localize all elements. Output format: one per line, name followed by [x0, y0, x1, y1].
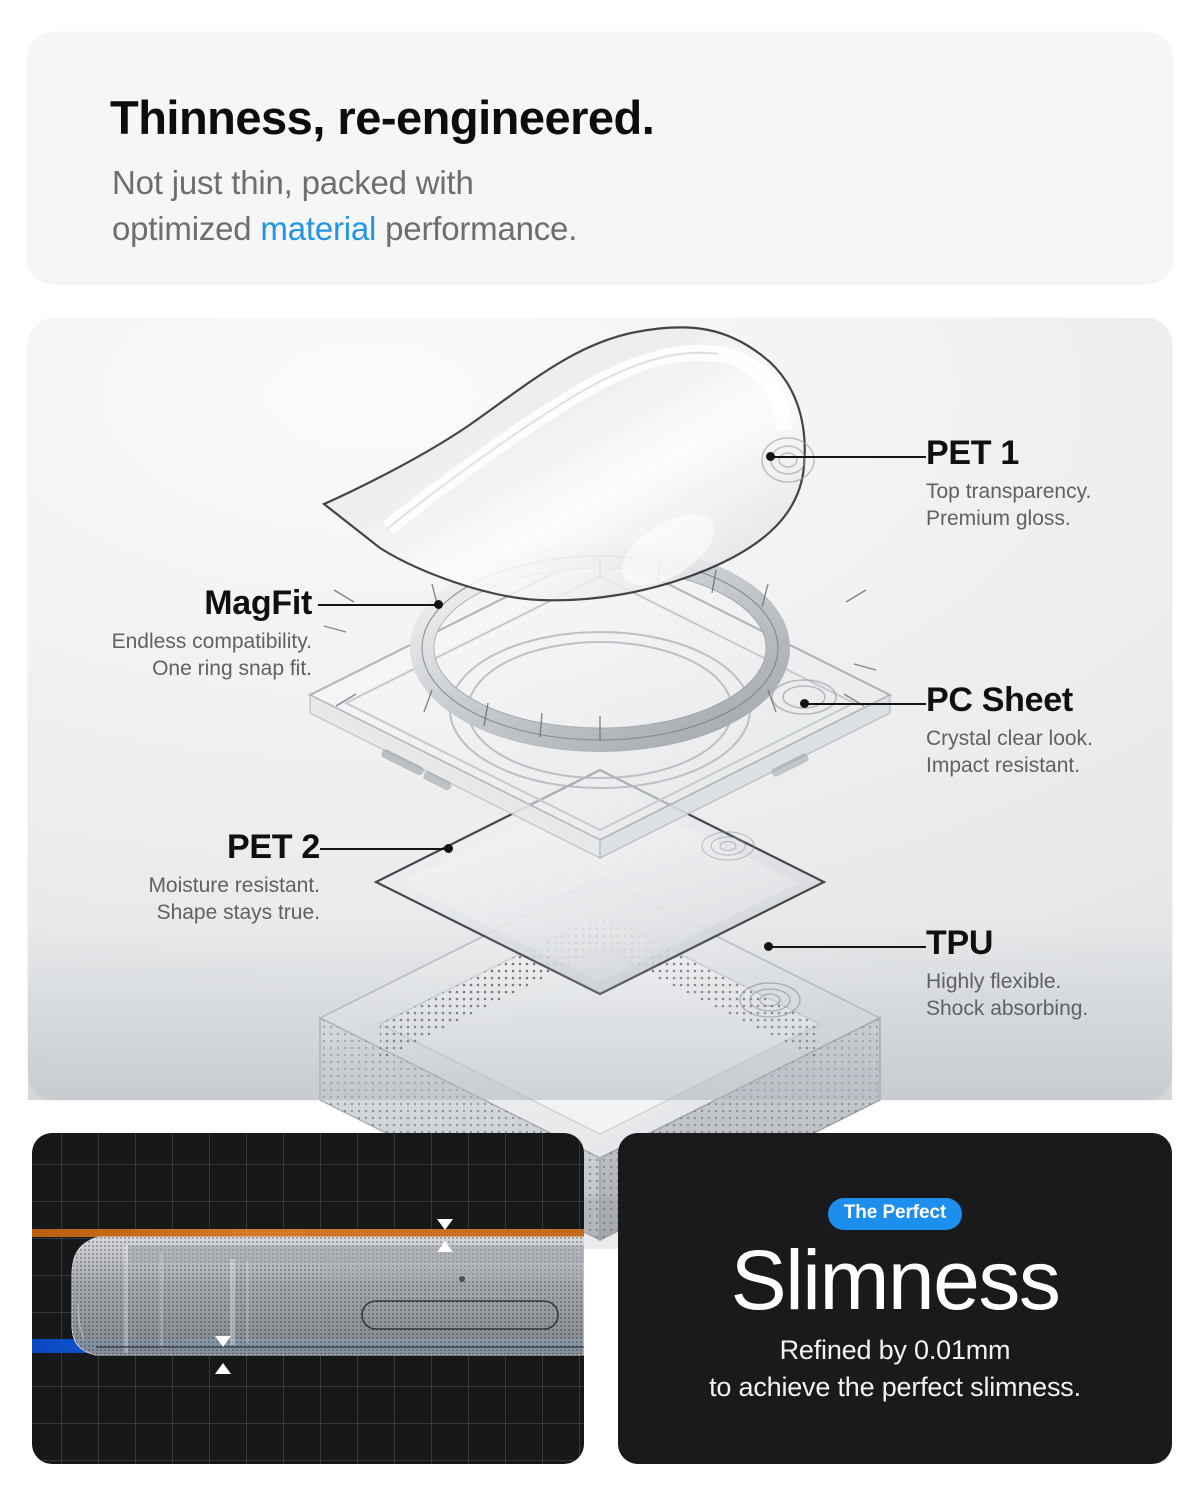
- measure-marker-top-down: [437, 1219, 453, 1230]
- callout-magfit: MagFit Endless compatibility. One ring s…: [48, 584, 312, 682]
- callout-magfit-desc: Endless compatibility. One ring snap fit…: [48, 628, 312, 682]
- leader-line-magfit: [318, 604, 438, 606]
- header-card: Thinness, re-engineered. Not just thin, …: [28, 32, 1172, 282]
- measure-marker-bottom-up: [215, 1363, 231, 1374]
- callout-pet1-desc-line1: Top transparency.: [926, 478, 1091, 505]
- leader-line-pet1: [770, 456, 926, 458]
- callout-pet2-desc-line2: Shape stays true.: [78, 899, 320, 926]
- callout-pcsheet: PC Sheet Crystal clear look. Impact resi…: [926, 681, 1093, 779]
- exploded-diagram-panel: PET 1 Top transparency. Premium gloss. M…: [28, 318, 1172, 1100]
- callout-magfit-desc-line1: Endless compatibility.: [48, 628, 312, 655]
- callout-pet2-desc: Moisture resistant. Shape stays true.: [78, 872, 320, 926]
- callout-magfit-desc-line2: One ring snap fit.: [48, 655, 312, 682]
- leader-line-pcsheet: [808, 703, 926, 705]
- leader-line-tpu: [770, 946, 926, 948]
- callout-pet1-title: PET 1: [926, 434, 1091, 472]
- callout-pcsheet-title: PC Sheet: [926, 681, 1093, 719]
- callout-tpu-desc: Highly flexible. Shock absorbing.: [926, 968, 1088, 1022]
- page-subtitle: Not just thin, packed with optimized mat…: [112, 160, 577, 252]
- page-title: Thinness, re-engineered.: [110, 90, 654, 145]
- callout-pet2-title: PET 2: [78, 828, 320, 866]
- case-profile-artwork: [32, 1133, 584, 1464]
- subtitle-accent-word: material: [260, 210, 376, 247]
- measure-marker-bottom-down: [215, 1336, 231, 1347]
- callout-pet1-desc-line2: Premium gloss.: [926, 505, 1091, 532]
- callout-pet2: PET 2 Moisture resistant. Shape stays tr…: [78, 828, 320, 926]
- callout-pet1: PET 1 Top transparency. Premium gloss.: [926, 434, 1091, 532]
- callout-pet1-desc: Top transparency. Premium gloss.: [926, 478, 1091, 532]
- callout-magfit-title: MagFit: [48, 584, 312, 622]
- callout-tpu-title: TPU: [926, 924, 1088, 962]
- subtitle-line-1: Not just thin, packed with: [112, 160, 577, 206]
- leader-dot-pet1: [766, 452, 775, 461]
- leader-dot-magfit: [434, 600, 443, 609]
- slimness-panel: The Perfect Slimness Refined by 0.01mm t…: [618, 1133, 1172, 1464]
- callout-pcsheet-desc: Crystal clear look. Impact resistant.: [926, 725, 1093, 779]
- leader-line-pet2: [320, 848, 448, 850]
- subtitle-suffix: performance.: [376, 210, 577, 247]
- subtitle-line-2: optimized material performance.: [112, 206, 577, 252]
- measure-marker-top-up: [437, 1241, 453, 1252]
- cross-section-panel: [32, 1133, 584, 1464]
- leader-dot-pcsheet: [800, 699, 809, 708]
- subtitle-prefix: optimized: [112, 210, 260, 247]
- leader-dot-pet2: [444, 844, 453, 853]
- callout-tpu-desc-line1: Highly flexible.: [926, 968, 1088, 995]
- pet1-layer: [324, 327, 814, 600]
- callout-pet2-desc-line1: Moisture resistant.: [78, 872, 320, 899]
- the-perfect-badge: The Perfect: [828, 1198, 962, 1230]
- leader-dot-tpu: [764, 942, 773, 951]
- callout-pcsheet-desc-line1: Crystal clear look.: [926, 725, 1093, 752]
- callout-pcsheet-desc-line2: Impact resistant.: [926, 752, 1093, 779]
- slimness-caption: Refined by 0.01mm to achieve the perfect…: [709, 1332, 1081, 1406]
- slimness-caption-line2: to achieve the perfect slimness.: [709, 1369, 1081, 1406]
- slimness-title: Slimness: [731, 1232, 1060, 1328]
- callout-tpu-desc-line2: Shock absorbing.: [926, 995, 1088, 1022]
- slimness-caption-line1: Refined by 0.01mm: [709, 1332, 1081, 1369]
- callout-tpu: TPU Highly flexible. Shock absorbing.: [926, 924, 1088, 1022]
